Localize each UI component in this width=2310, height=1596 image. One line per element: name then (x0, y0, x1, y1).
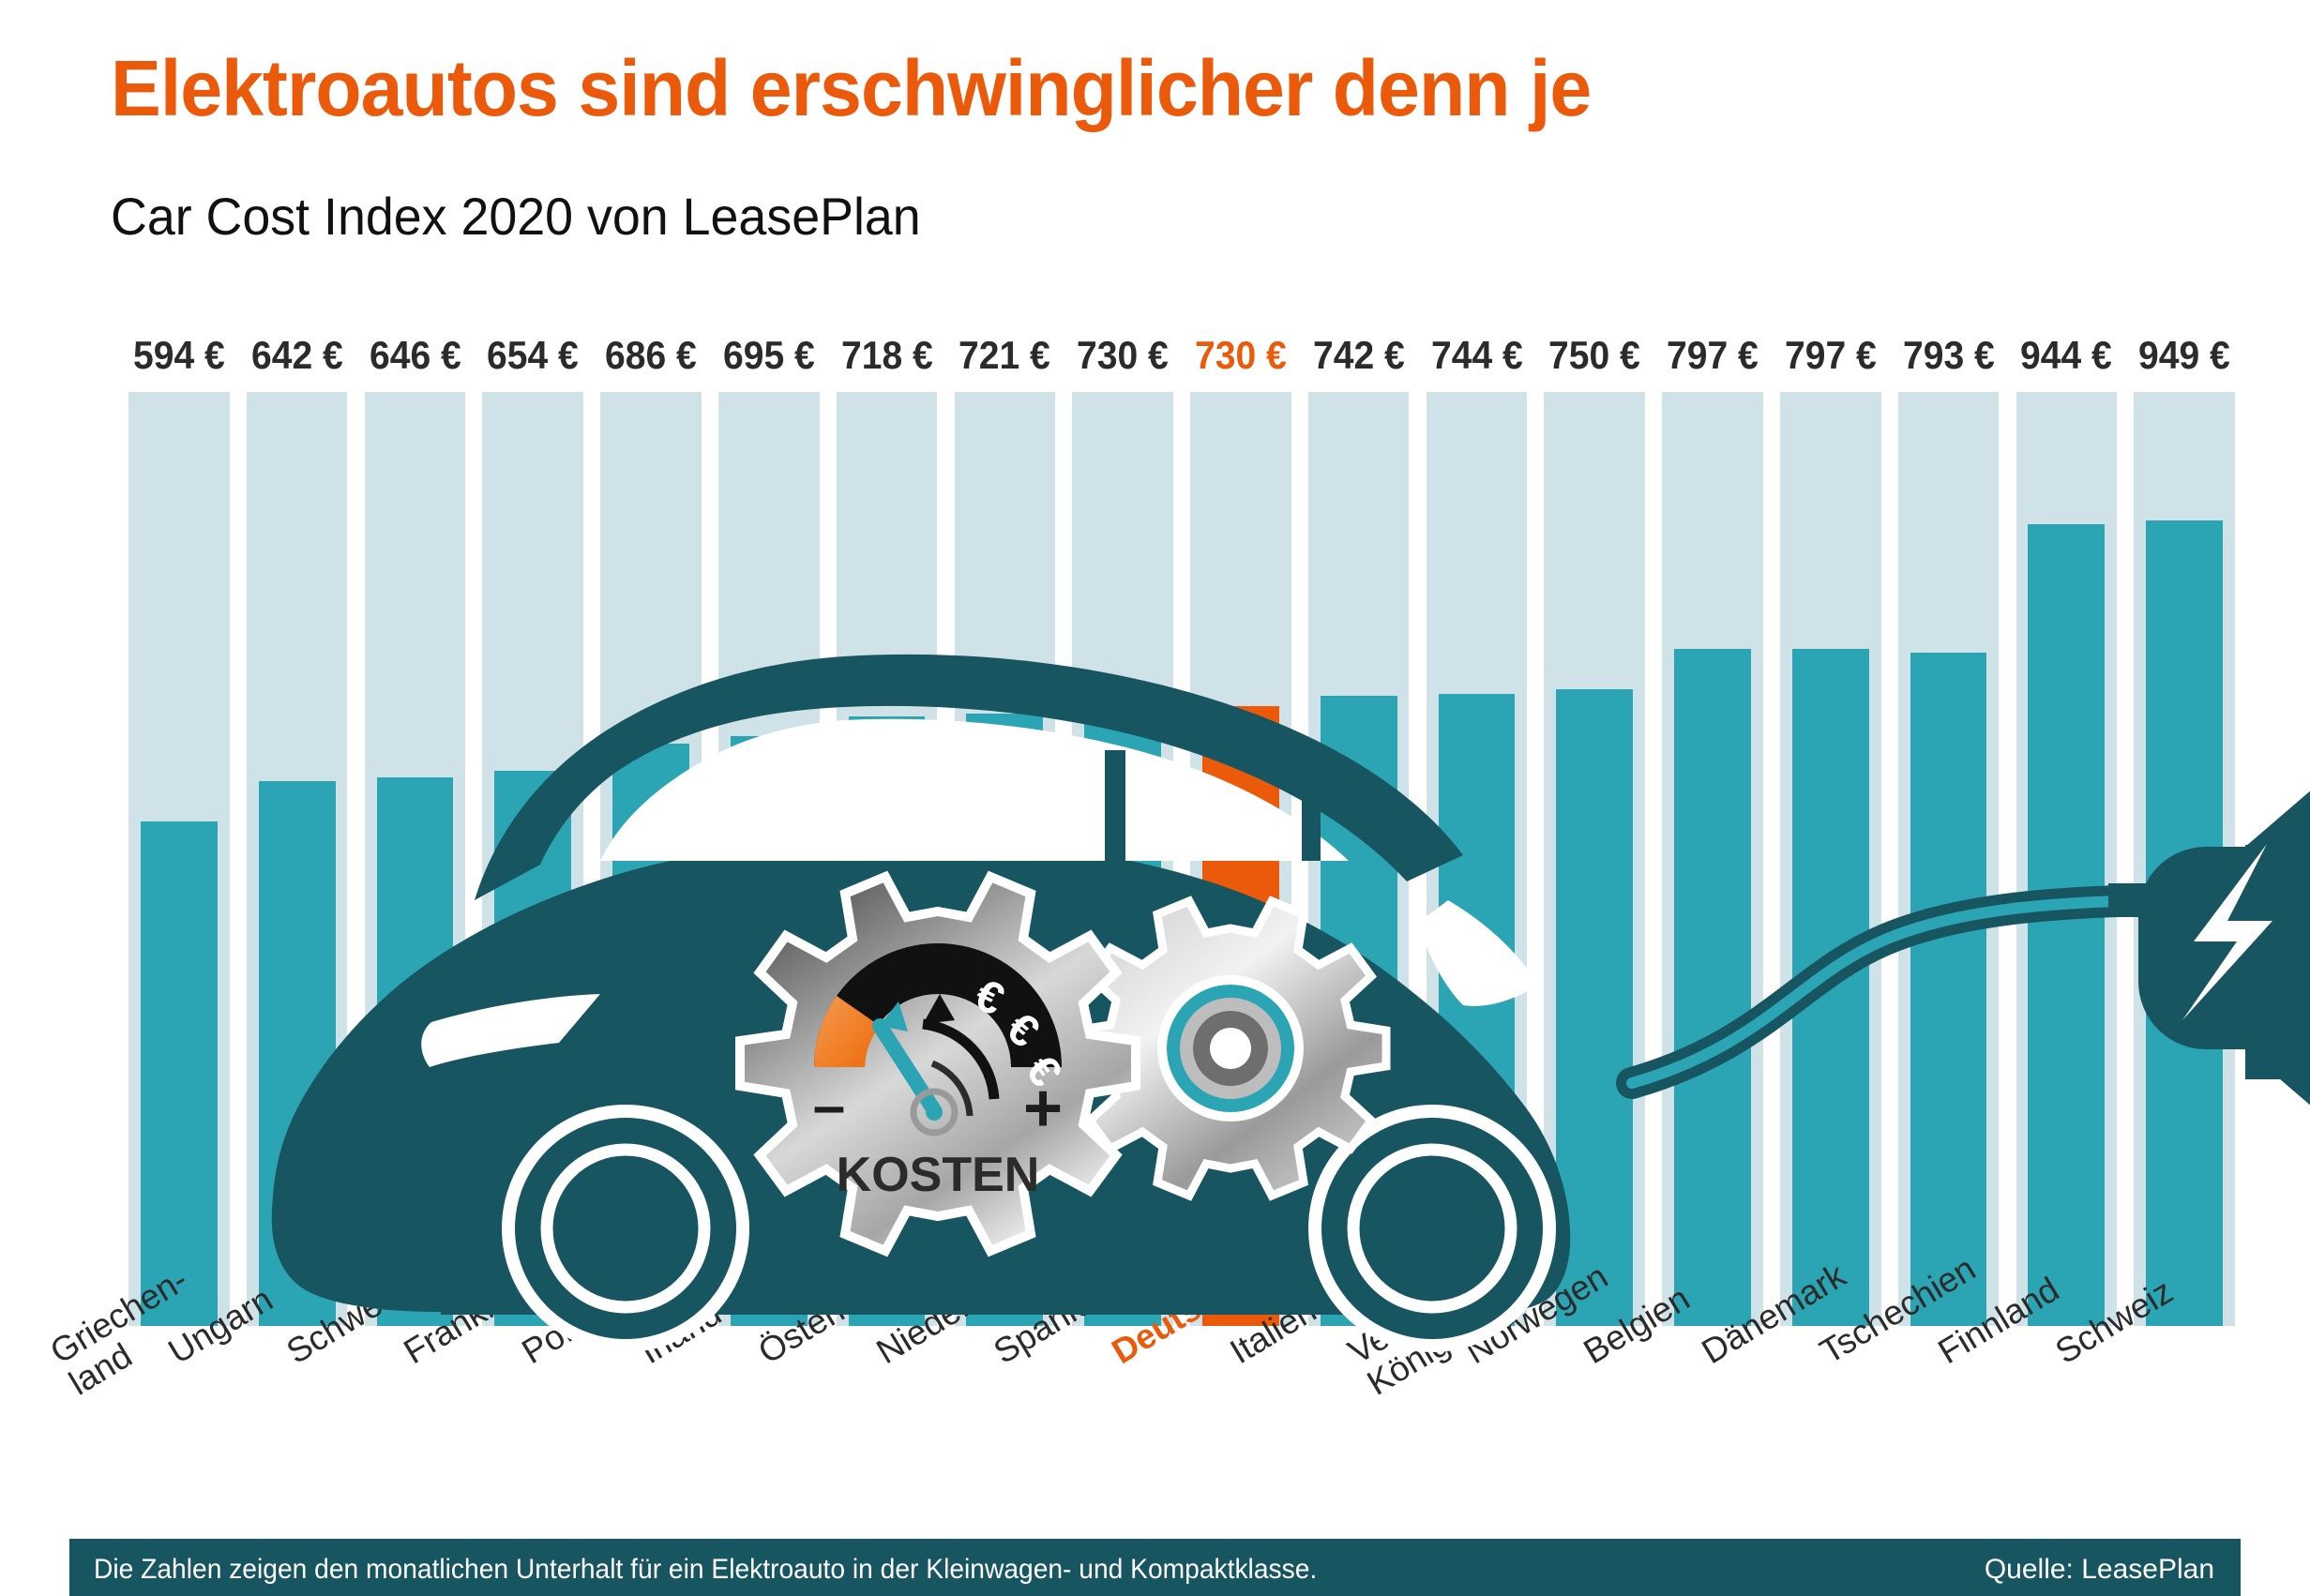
bar-norwegen[interactable] (1556, 689, 1633, 1326)
bar-schweden[interactable] (377, 777, 454, 1326)
bar-spanien[interactable] (1084, 706, 1161, 1326)
value-label: 730 € (1068, 333, 1178, 378)
value-label: 797 € (1658, 333, 1768, 378)
footer-source: Quelle: LeasePlan (1985, 1554, 2214, 1586)
footer-bar: Die Zahlen zeigen den monatlichen Unterh… (69, 1539, 2241, 1596)
bar-tschechien[interactable] (1910, 653, 1987, 1326)
bar-schweiz[interactable] (2146, 520, 2223, 1326)
value-label: 686 € (596, 333, 706, 378)
bar-irland[interactable] (731, 736, 808, 1326)
footer-note: Die Zahlen zeigen den monatlichen Unterh… (94, 1554, 1317, 1586)
value-label: 718 € (832, 333, 942, 378)
value-label: 949 € (2130, 333, 2240, 378)
value-label: 642 € (242, 333, 352, 378)
bar-chart: 594 €Griechen-land642 €Ungarn646 €Schwed… (0, 0, 2310, 1596)
bar-ungarn[interactable] (259, 781, 336, 1326)
bar--sterreich[interactable] (849, 716, 926, 1326)
value-label: 721 € (950, 333, 1060, 378)
value-label: 750 € (1540, 333, 1650, 378)
bar-niederlande[interactable] (966, 714, 1043, 1326)
value-label: 646 € (360, 333, 470, 378)
value-label: 594 € (124, 333, 234, 378)
bar-deutschland[interactable] (1202, 706, 1279, 1326)
value-label: 744 € (1422, 333, 1532, 378)
bar-frankreich[interactable] (494, 771, 571, 1326)
bar-portugal[interactable] (612, 744, 689, 1326)
bar-finnland[interactable] (2028, 524, 2105, 1326)
bar-griechen-land[interactable] (141, 821, 218, 1326)
bar-belgien[interactable] (1674, 649, 1751, 1326)
bar-vereinigtes-k-nigreich[interactable] (1439, 694, 1516, 1326)
value-label: 944 € (2012, 333, 2121, 378)
value-label: 793 € (1894, 333, 2003, 378)
value-label: 797 € (1775, 333, 1885, 378)
bar-italien[interactable] (1321, 696, 1397, 1326)
value-label: 695 € (714, 333, 823, 378)
value-label: 654 € (478, 333, 588, 378)
value-label: 742 € (1304, 333, 1413, 378)
value-label: 730 € (1185, 333, 1295, 378)
bar-d-nemark[interactable] (1792, 649, 1869, 1326)
